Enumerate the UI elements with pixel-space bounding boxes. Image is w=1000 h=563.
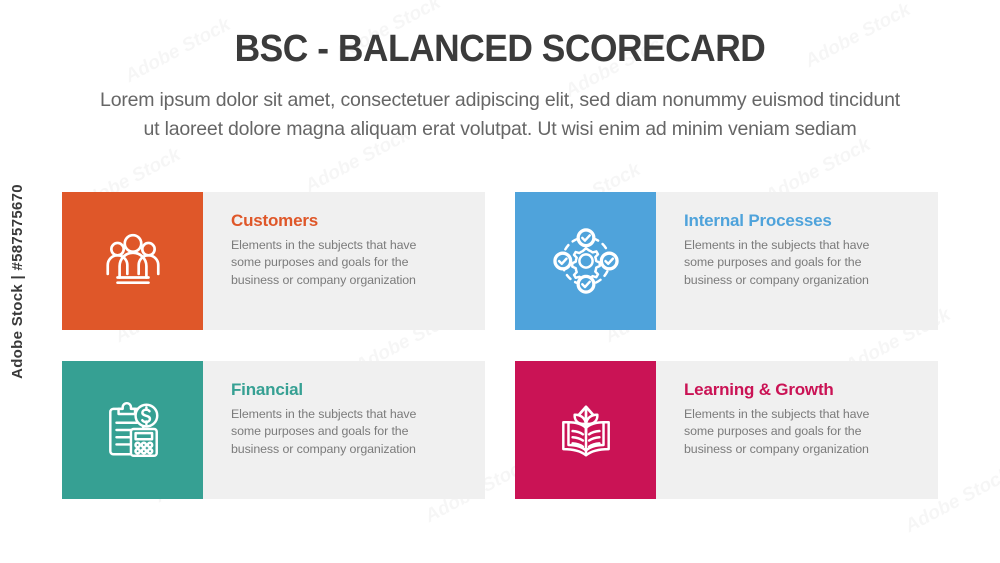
card-learning-growth[interactable]: Learning & Growth Elements in the subjec…: [515, 361, 938, 499]
card-title-internal-processes: Internal Processes: [684, 212, 924, 231]
card-body-learning-growth: Learning & Growth Elements in the subjec…: [656, 361, 938, 499]
card-financial[interactable]: Financial Elements in the subjects that …: [62, 361, 485, 499]
card-body-internal-processes: Internal Processes Elements in the subje…: [656, 192, 938, 330]
stock-attribution-label: Adobe Stock | #587575670: [9, 184, 26, 379]
people-group-icon: [100, 228, 166, 294]
card-icon-block-internal-processes: [515, 192, 656, 330]
card-customers[interactable]: Customers Elements in the subjects that …: [62, 192, 485, 330]
page-subtitle: Lorem ipsum dolor sit amet, consectetuer…: [60, 86, 940, 145]
card-body-customers: Customers Elements in the subjects that …: [203, 192, 485, 330]
card-description-customers: Elements in the subjects that have some …: [231, 237, 446, 290]
scorecard-grid: Customers Elements in the subjects that …: [62, 192, 938, 500]
card-title-financial: Financial: [231, 381, 471, 400]
gear-checkmarks-icon: [553, 228, 619, 294]
card-title-learning-growth: Learning & Growth: [684, 381, 924, 400]
page-subtitle-line-2: ut laoreet dolore magna aliquam erat vol…: [60, 115, 940, 144]
card-description-internal-processes: Elements in the subjects that have some …: [684, 237, 899, 290]
card-description-financial: Elements in the subjects that have some …: [231, 406, 446, 459]
clipboard-calculator-dollar-icon: [100, 397, 166, 463]
header: BSC - BALANCED SCORECARD Lorem ipsum dol…: [0, 0, 1000, 144]
card-description-learning-growth: Elements in the subjects that have some …: [684, 406, 899, 459]
card-icon-block-learning-growth: [515, 361, 656, 499]
card-body-financial: Financial Elements in the subjects that …: [203, 361, 485, 499]
card-title-customers: Customers: [231, 212, 471, 231]
book-growth-arrow-icon: [553, 397, 619, 463]
card-icon-block-financial: [62, 361, 203, 499]
card-icon-block-customers: [62, 192, 203, 330]
page-subtitle-line-1: Lorem ipsum dolor sit amet, consectetuer…: [60, 86, 940, 115]
card-internal-processes[interactable]: Internal Processes Elements in the subje…: [515, 192, 938, 330]
page-title: BSC - BALANCED SCORECARD: [35, 28, 965, 72]
